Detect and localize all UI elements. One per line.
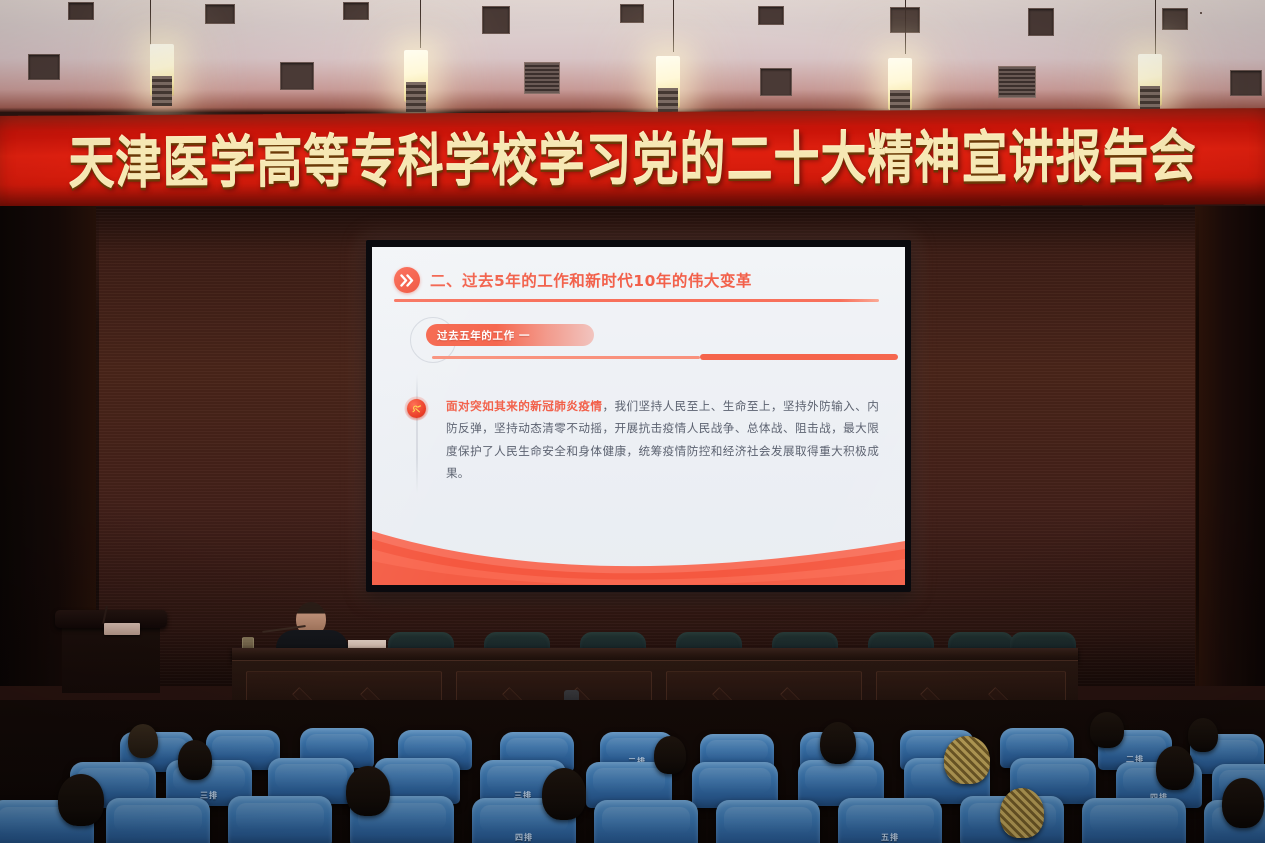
- ceiling-vent: [68, 2, 94, 20]
- ceiling-vent: [1200, 12, 1202, 14]
- auditorium-seat: [106, 798, 210, 843]
- section-rule-thick: [700, 354, 898, 360]
- event-banner: 天津医学高等专科学校学习党的二十大精神宣讲报告会: [0, 108, 1265, 212]
- attendee-head: [346, 766, 390, 816]
- light-wire: [420, 0, 421, 48]
- attendee-head: [58, 774, 104, 826]
- ceiling-air-grille: [998, 66, 1036, 98]
- ceiling-vent: [28, 54, 60, 80]
- light-wire: [905, 0, 906, 54]
- slide-body: 面对突如其来的新冠肺炎疫情，我们坚持人民至上、生命至上，坚持外防输入、内防反弹，…: [406, 383, 879, 497]
- auditorium-seat: [716, 800, 820, 843]
- lectern-sign: [104, 623, 140, 635]
- ceiling-vent: [343, 2, 369, 20]
- ceiling-vent: [1028, 8, 1054, 36]
- screen-display-area: 二、过去5年的工作和新时代10年的伟大变革 过去五年的工作 一: [372, 247, 905, 585]
- attendee-head: [542, 768, 586, 820]
- ceiling-air-grille: [524, 62, 560, 94]
- seat-row-label: 五排: [838, 832, 942, 843]
- lecture-hall-photo: 天津医学高等专科学校学习党的二十大精神宣讲报告会 二、过去5年的工作和新时代10…: [0, 0, 1265, 843]
- double-chevron-right-icon: [394, 267, 420, 293]
- ceiling-vent: [760, 68, 792, 96]
- section-rule-thin: [432, 356, 700, 359]
- wall-right-shadow: [1195, 206, 1265, 686]
- attendee-head: [1156, 746, 1194, 790]
- ceiling-vent: [482, 6, 510, 34]
- ceiling-vent: [280, 62, 314, 90]
- attendee-head: [944, 736, 990, 784]
- projection-screen: 二、过去5年的工作和新时代10年的伟大变革 过去五年的工作 一: [366, 240, 911, 592]
- slide-title: 二、过去5年的工作和新时代10年的伟大变革: [430, 269, 752, 291]
- auditorium-seat: [228, 796, 332, 843]
- attendee-head: [178, 740, 212, 780]
- slide-header: 二、过去5年的工作和新时代10年的伟大变革: [394, 263, 887, 297]
- light-wire: [673, 0, 674, 52]
- cpc-party-emblem-icon: [407, 399, 426, 418]
- audience-seating: 二排 二排 三排 三排 四排 四排: [0, 700, 1265, 843]
- attendee-head: [654, 736, 686, 774]
- ceiling-vent: [205, 4, 235, 24]
- attendee-head: [820, 722, 856, 764]
- slide-section-marker: 过去五年的工作 一: [410, 315, 710, 367]
- wall-seam: [1196, 206, 1199, 686]
- body-highlight: 面对突如其来的新冠肺炎疫情: [446, 399, 602, 413]
- light-wire: [150, 0, 151, 44]
- auditorium-seat: [594, 800, 698, 843]
- section-badge-label: 过去五年的工作 一: [437, 328, 530, 343]
- attendee-head: [128, 724, 158, 758]
- ceiling-vent: [758, 6, 784, 25]
- slide-body-paragraph: 面对突如其来的新冠肺炎疫情，我们坚持人民至上、生命至上，坚持外防输入、内防反弹，…: [446, 395, 879, 485]
- auditorium-seat: [1082, 798, 1186, 843]
- banner-title: 天津医学高等专科学校学习党的二十大精神宣讲报告会: [68, 128, 1196, 191]
- auditorium-seat: 五排: [838, 798, 942, 843]
- slide-bottom-wave-graphic: [372, 515, 905, 585]
- presentation-slide: 二、过去5年的工作和新时代10年的伟大变革 过去五年的工作 一: [372, 247, 905, 585]
- light-louver: [406, 82, 426, 112]
- attendee-head: [1188, 718, 1218, 752]
- light-wire: [1155, 0, 1156, 56]
- attendee-head: [1222, 778, 1264, 828]
- section-badge: 过去五年的工作 一: [426, 324, 594, 346]
- body-connector-line: [416, 375, 418, 493]
- ceiling-vent: [1230, 70, 1262, 96]
- ceiling-vent: [1162, 8, 1188, 30]
- slide-title-underline: [394, 299, 879, 302]
- seat-row-label: 四排: [472, 832, 576, 843]
- attendee-head: [1000, 788, 1044, 838]
- attendee-head: [1090, 712, 1124, 748]
- ceiling: [0, 0, 1265, 112]
- light-louver: [152, 76, 172, 106]
- ceiling-vent: [620, 4, 644, 23]
